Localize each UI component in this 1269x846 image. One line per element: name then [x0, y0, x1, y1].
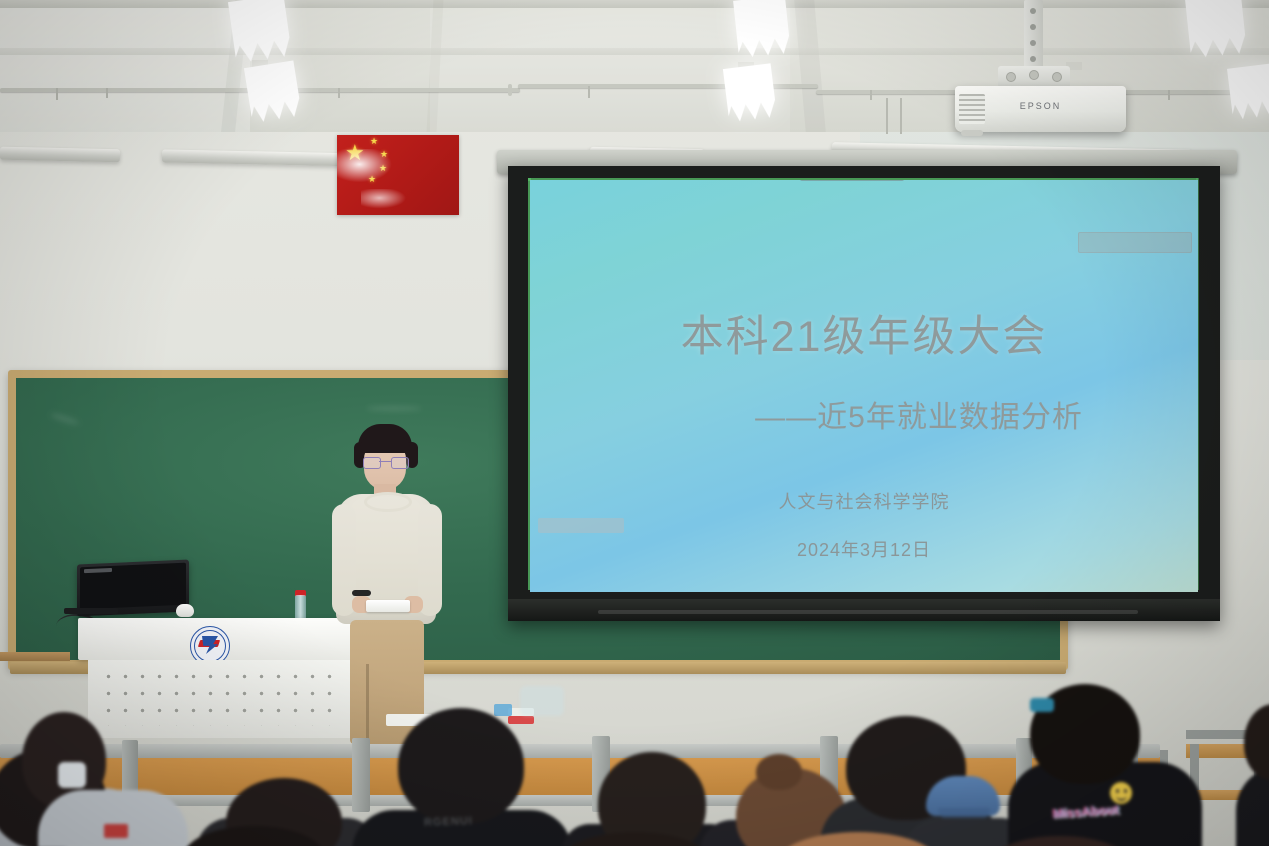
face-mask: [58, 762, 86, 788]
glasses-icon: [363, 457, 407, 467]
projector: EPSON: [955, 86, 1126, 132]
audience-head: [398, 708, 524, 824]
classroom-photo-scene: ★ ★ ★ ★ ★ EPSON: [0, 0, 1269, 846]
slide-surface: 本科21级年级大会 ——近5年就业数据分析 人文与社会科学学院 2024年3月1…: [530, 180, 1198, 592]
projection-screen-weight-bar: [508, 599, 1220, 621]
ceiling-conduit-drop: [508, 84, 512, 96]
slide-chip-top-right: [1078, 232, 1192, 253]
national-flag: ★ ★ ★ ★ ★: [337, 135, 459, 215]
audience: RGENUI MissAbout: [0, 690, 1269, 846]
fluorescent-tube: [0, 147, 120, 163]
monitor-stand: [64, 608, 118, 614]
ceiling-lamp: [733, 0, 791, 59]
ceiling-lamp: [723, 63, 777, 122]
hair-bun: [756, 754, 802, 790]
presenter-collar: [364, 492, 412, 512]
ceiling-lamp: [1227, 64, 1269, 121]
projection-screen: 本科21级年级大会 ——近5年就业数据分析 人文与社会科学学院 2024年3月1…: [508, 166, 1220, 621]
slide-date: 2024年3月12日: [530, 536, 1198, 562]
slide-subtitle: ——近5年就业数据分析: [530, 392, 1198, 436]
slide-organization: 人文与社会科学学院: [530, 488, 1198, 514]
projector-mount-pole: [1024, 0, 1043, 70]
mouse[interactable]: [176, 604, 194, 617]
presenter-fringe: [360, 436, 410, 453]
side-table: [0, 652, 70, 661]
slide-chip-top: [800, 180, 904, 181]
ceiling-lamp: [228, 0, 292, 64]
hair-clip: [1030, 698, 1054, 712]
smiley-icon: [1110, 782, 1132, 804]
phone: [104, 824, 128, 838]
slide-title: 本科21级年级大会: [530, 302, 1198, 364]
podium-top: [78, 618, 362, 660]
projector-brand-label: EPSON: [955, 101, 1126, 111]
projector-lens: [961, 130, 983, 136]
presenter-papers: [366, 600, 410, 612]
slide-chip-bottom-left: [538, 518, 624, 533]
ceiling-lamp: [1185, 0, 1247, 59]
jacket-back-text: RGENUI: [424, 815, 473, 829]
ceiling-lamp: [244, 60, 302, 123]
audience-head: [1244, 704, 1269, 780]
